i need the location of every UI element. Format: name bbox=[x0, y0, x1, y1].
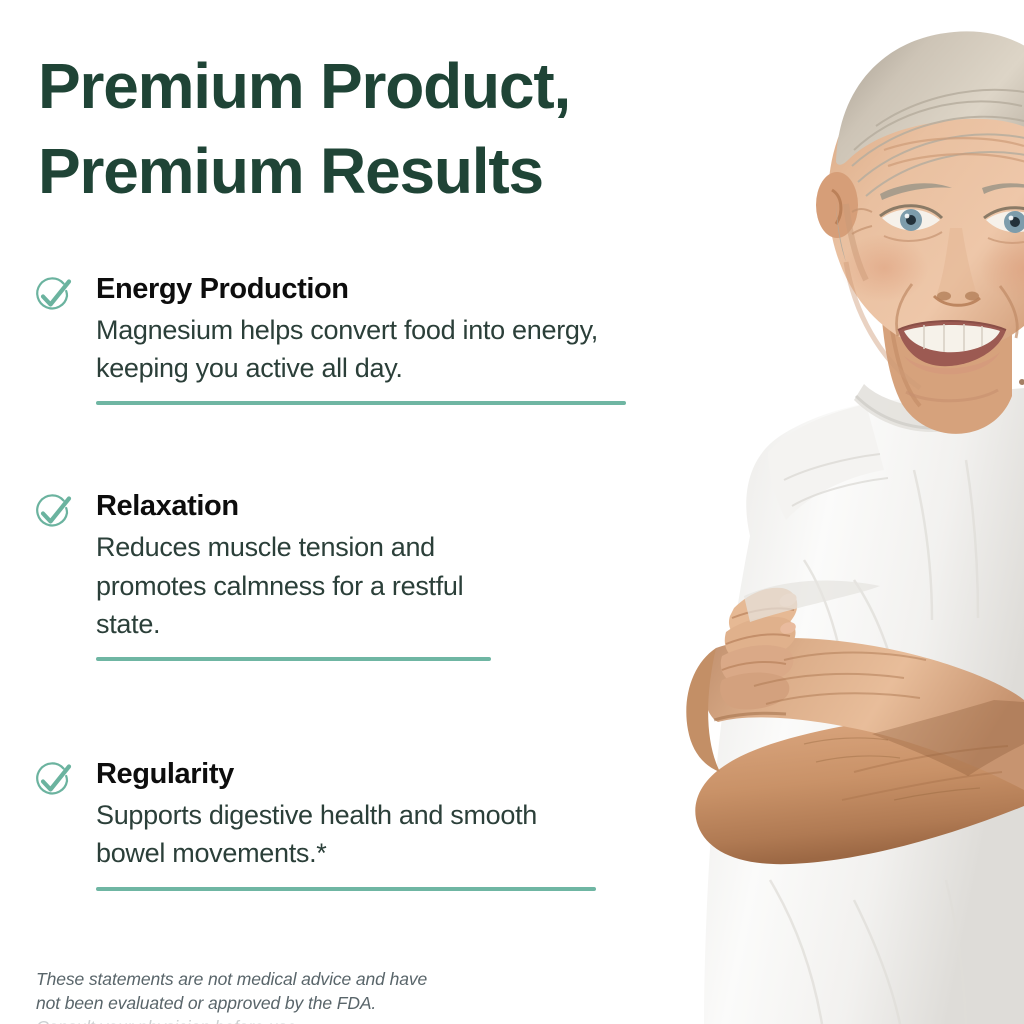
benefit-item-energy-production: Energy Production Magnesium helps conver… bbox=[30, 272, 670, 405]
disclaimer-line-2: not been evaluated or approved by the FD… bbox=[36, 991, 556, 1015]
legal-disclaimer: These statements are not medical advice … bbox=[36, 967, 556, 1024]
spacer bbox=[30, 405, 670, 489]
disclaimer-line-3: Consult your physician before use. bbox=[36, 1015, 556, 1024]
benefit-divider bbox=[96, 887, 596, 891]
promo-card: Premium Product, Premium Results Energy … bbox=[0, 0, 1024, 1024]
benefit-divider bbox=[96, 401, 626, 405]
benefits-list: Energy Production Magnesium helps conver… bbox=[30, 272, 670, 891]
benefit-description: Reduces muscle tension and promotes calm… bbox=[96, 528, 496, 643]
check-circle-icon bbox=[30, 274, 74, 318]
benefit-description: Magnesium helps convert food into energy… bbox=[96, 311, 670, 388]
disclaimer-line-1: These statements are not medical advice … bbox=[36, 967, 556, 991]
benefit-description: Supports digestive health and smooth bow… bbox=[96, 796, 606, 873]
benefit-title: Regularity bbox=[96, 757, 670, 792]
headline-line-1: Premium Product, bbox=[38, 44, 738, 129]
benefit-divider bbox=[96, 657, 491, 661]
spacer bbox=[30, 661, 670, 757]
headline-line-2: Premium Results bbox=[38, 129, 738, 214]
benefit-title: Relaxation bbox=[96, 489, 670, 524]
check-circle-icon bbox=[30, 491, 74, 535]
benefit-title: Energy Production bbox=[96, 272, 670, 307]
headline: Premium Product, Premium Results bbox=[38, 44, 738, 214]
benefit-item-relaxation: Relaxation Reduces muscle tension and pr… bbox=[30, 489, 670, 661]
check-circle-icon bbox=[30, 759, 74, 803]
benefit-item-regularity: Regularity Supports digestive health and… bbox=[30, 757, 670, 890]
